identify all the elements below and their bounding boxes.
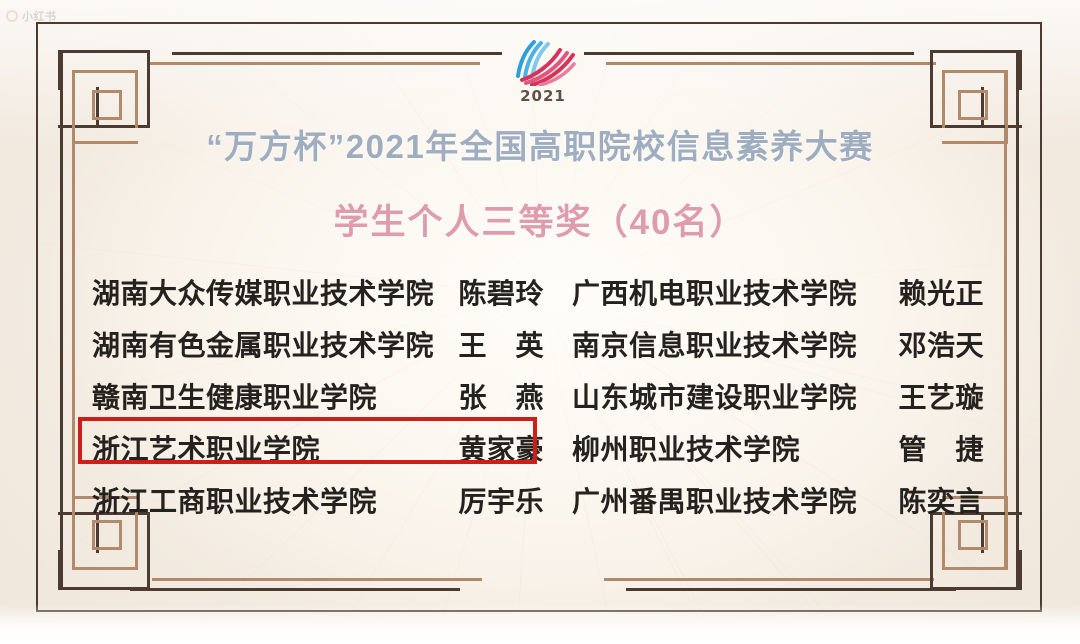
page-title: “万方杯”2021年全国高职院校信息素养大赛	[0, 120, 1080, 168]
winner-name: 王 英	[458, 324, 544, 364]
winner-name: 陈奕言	[898, 480, 984, 520]
list-item: 赣南卫生健康职业学院 张 燕	[92, 370, 544, 422]
winner-name: 邓浩天	[898, 324, 984, 364]
winner-name: 王艺璇	[898, 376, 984, 416]
school-name: 广州番禺职业技术学院	[572, 480, 857, 520]
list-item: 广西机电职业技术学院 赖光正	[572, 266, 984, 318]
list-item: 南京信息职业技术学院 邓浩天	[572, 318, 984, 370]
list-item: 山东城市建设职业学院 王艺璇	[572, 370, 984, 422]
winner-name: 陈碧玲	[458, 272, 544, 312]
winner-name: 赖光正	[898, 272, 984, 312]
highlight-box	[78, 417, 537, 464]
school-name: 广西机电职业技术学院	[572, 272, 857, 312]
winner-name: 厉宇乐	[458, 480, 544, 520]
watermark-dot-icon	[6, 10, 18, 22]
logo-swoosh-icon	[504, 36, 582, 86]
school-name: 浙江工商职业技术学院	[92, 480, 377, 520]
school-name: 南京信息职业技术学院	[572, 324, 857, 364]
list-item: 浙江工商职业技术学院 厉宇乐	[92, 474, 544, 526]
school-name: 柳州职业技术学院	[572, 428, 800, 468]
list-item: 广州番禺职业技术学院 陈奕言	[572, 474, 984, 526]
list-item: 湖南有色金属职业技术学院 王 英	[92, 318, 544, 370]
school-name: 湖南有色金属职业技术学院	[92, 324, 434, 364]
school-name: 赣南卫生健康职业学院	[92, 376, 377, 416]
award-subtitle: 学生个人三等奖（40名）	[0, 194, 1080, 245]
list-item: 柳州职业技术学院 管 捷	[572, 422, 984, 474]
logo-year: 2021	[497, 87, 589, 105]
list-item: 湖南大众传媒职业技术学院 陈碧玲	[92, 266, 544, 318]
winners-column-left: 湖南大众传媒职业技术学院 陈碧玲 湖南有色金属职业技术学院 王 英 赣南卫生健康…	[92, 266, 544, 526]
school-name: 山东城市建设职业学院	[572, 376, 857, 416]
competition-logo: 2021	[497, 36, 589, 108]
winner-name: 张 燕	[458, 376, 544, 416]
winner-name: 管 捷	[898, 428, 984, 468]
award-slide: 小红书	[0, 0, 1080, 644]
winners-column-right: 广西机电职业技术学院 赖光正 南京信息职业技术学院 邓浩天 山东城市建设职业学院…	[572, 266, 984, 526]
school-name: 湖南大众传媒职业技术学院	[92, 272, 434, 312]
